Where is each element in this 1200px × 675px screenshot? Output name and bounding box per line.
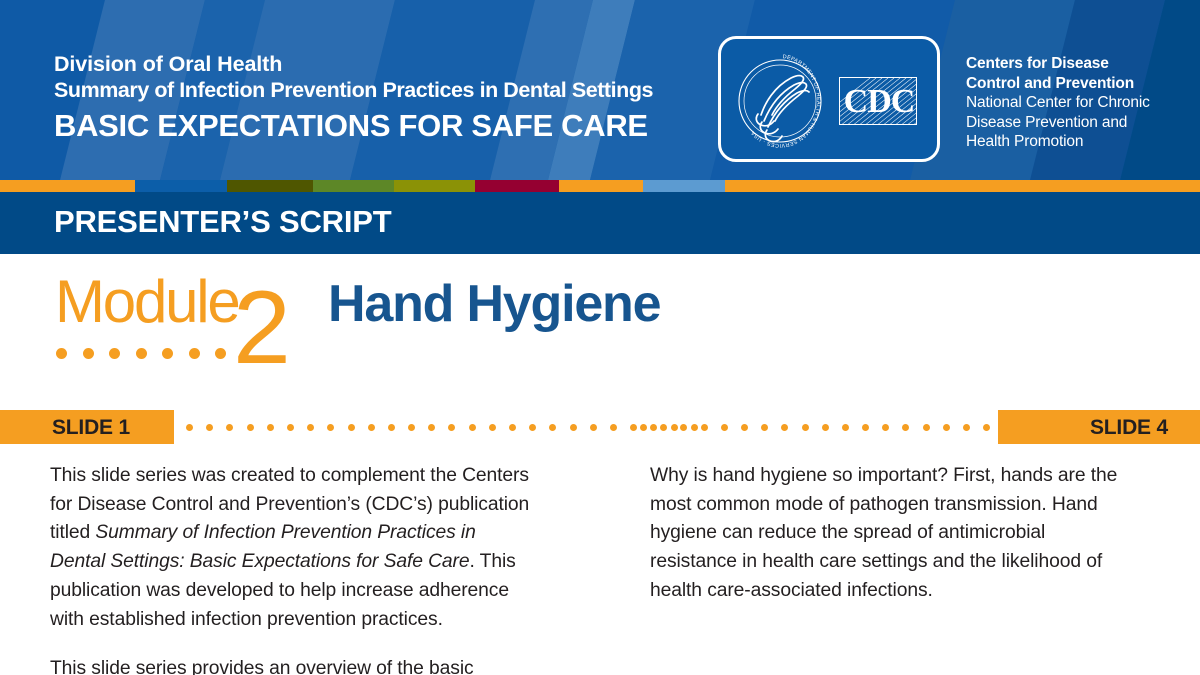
divider-dot — [570, 424, 577, 431]
divider-dot — [428, 424, 435, 431]
body-text-run: This slide series provides an overview o… — [50, 658, 474, 675]
brand-color-strip — [0, 180, 1200, 192]
divider-dot — [630, 424, 637, 431]
divider-dot — [590, 424, 597, 431]
italic-publication-title: Summary of Infection Prevention Practice… — [50, 522, 476, 572]
divider-dot — [902, 424, 909, 431]
slide-header-row-right: SLIDE 4 — [640, 410, 1200, 444]
cdc-monogram-text: CDC — [840, 78, 917, 125]
presenters-script-label: PRESENTER’S SCRIPT — [54, 204, 391, 240]
divider-dot — [247, 424, 254, 431]
divider-dot — [923, 424, 930, 431]
page-header: Division of Oral Health Summary of Infec… — [0, 0, 1200, 180]
slide-dotted-divider — [186, 424, 698, 431]
status-badge: SLIDE 1 — [0, 410, 174, 444]
cdc-agency-name: Centers for Disease Control and Preventi… — [966, 54, 1186, 152]
divider-dot — [862, 424, 869, 431]
module-dot — [162, 348, 173, 359]
module-dot — [83, 348, 94, 359]
module-word-label: Module — [55, 271, 239, 333]
module-dot — [136, 348, 147, 359]
color-strip-dark-olive — [227, 180, 313, 192]
body-text-run: Why is hand hygiene so important? First,… — [650, 465, 1117, 601]
module-number-label: 2 — [233, 276, 291, 380]
presenters-script-band: PRESENTER’S SCRIPT — [0, 192, 1200, 254]
cdc-logo-block: DEPARTMENT OF HEALTH & HUMAN SERVICES · … — [718, 36, 1178, 176]
module-dot-decoration — [56, 348, 226, 359]
cdc-agency-line-1: Centers for Disease — [966, 54, 1186, 74]
divider-dot — [680, 424, 687, 431]
divider-dot — [267, 424, 274, 431]
page-title: Hand Hygiene — [328, 274, 660, 334]
cdc-agency-line-3: National Center for Chronic — [966, 93, 1186, 113]
module-title-area: Module 2 Hand Hygiene — [0, 254, 1200, 406]
divider-dot — [640, 424, 647, 431]
header-division-line: Division of Oral Health — [54, 52, 714, 77]
divider-dot — [348, 424, 355, 431]
module-dot — [109, 348, 120, 359]
presenter-script-page: Division of Oral Health Summary of Infec… — [0, 0, 1200, 675]
divider-dot — [226, 424, 233, 431]
divider-dot — [761, 424, 768, 431]
divider-dot — [408, 424, 415, 431]
cdc-agency-line-4: Disease Prevention and — [966, 113, 1186, 133]
body-paragraph: Why is hand hygiene so important? First,… — [650, 462, 1130, 606]
slide-body-left: This slide series was created to complem… — [50, 462, 530, 675]
divider-dot — [529, 424, 536, 431]
divider-dot — [307, 424, 314, 431]
slide-header-row-left: SLIDE 1 — [0, 410, 560, 444]
divider-dot — [509, 424, 516, 431]
module-dot — [189, 348, 200, 359]
divider-dot — [882, 424, 889, 431]
color-strip-maroon — [475, 180, 559, 192]
divider-dot — [206, 424, 213, 431]
divider-dot — [963, 424, 970, 431]
body-paragraph: This slide series was created to complem… — [50, 462, 530, 634]
cdc-agency-line-2: Control and Prevention — [966, 74, 1186, 94]
divider-dot — [287, 424, 294, 431]
divider-dot — [186, 424, 193, 431]
cdc-monogram-box: CDC — [839, 77, 917, 125]
divider-dot — [842, 424, 849, 431]
divider-dot — [781, 424, 788, 431]
divider-dot — [368, 424, 375, 431]
cdc-logo-badge: DEPARTMENT OF HEALTH & HUMAN SERVICES · … — [718, 36, 940, 162]
slide-badge-label: SLIDE 1 — [52, 416, 130, 440]
divider-dot — [469, 424, 476, 431]
divider-dot — [802, 424, 809, 431]
divider-dot — [701, 424, 708, 431]
module-dot — [215, 348, 226, 359]
header-title-group: Division of Oral Health Summary of Infec… — [54, 52, 714, 145]
header-main-title-line: BASIC EXPECTATIONS FOR SAFE CARE — [54, 107, 714, 145]
divider-dot — [549, 424, 556, 431]
divider-dot — [489, 424, 496, 431]
hhs-seal-icon: DEPARTMENT OF HEALTH & HUMAN SERVICES · … — [731, 47, 829, 155]
divider-dot — [721, 424, 728, 431]
module-dot — [56, 348, 67, 359]
status-badge: SLIDE 4 — [998, 410, 1200, 444]
slide-badge-label: SLIDE 4 — [1090, 416, 1168, 440]
divider-dot — [388, 424, 395, 431]
color-strip-orange-2 — [559, 180, 643, 192]
header-subtitle-line: Summary of Infection Prevention Practice… — [54, 77, 714, 104]
color-strip-orange-1 — [0, 180, 135, 192]
divider-dot — [822, 424, 829, 431]
color-strip-light-blue — [643, 180, 725, 192]
divider-dot — [660, 424, 667, 431]
divider-dot — [610, 424, 617, 431]
divider-dot — [448, 424, 455, 431]
divider-dot — [983, 424, 990, 431]
color-strip-green — [313, 180, 394, 192]
divider-dot — [327, 424, 334, 431]
divider-dot — [741, 424, 748, 431]
body-paragraph: This slide series provides an overview o… — [50, 655, 530, 675]
cdc-agency-line-5: Health Promotion — [966, 132, 1186, 152]
color-strip-olive-yellow — [394, 180, 475, 192]
color-strip-orange-3 — [725, 180, 1200, 192]
slide-body-right: Why is hand hygiene so important? First,… — [650, 462, 1130, 627]
color-strip-blue-1 — [135, 180, 227, 192]
divider-dot — [943, 424, 950, 431]
